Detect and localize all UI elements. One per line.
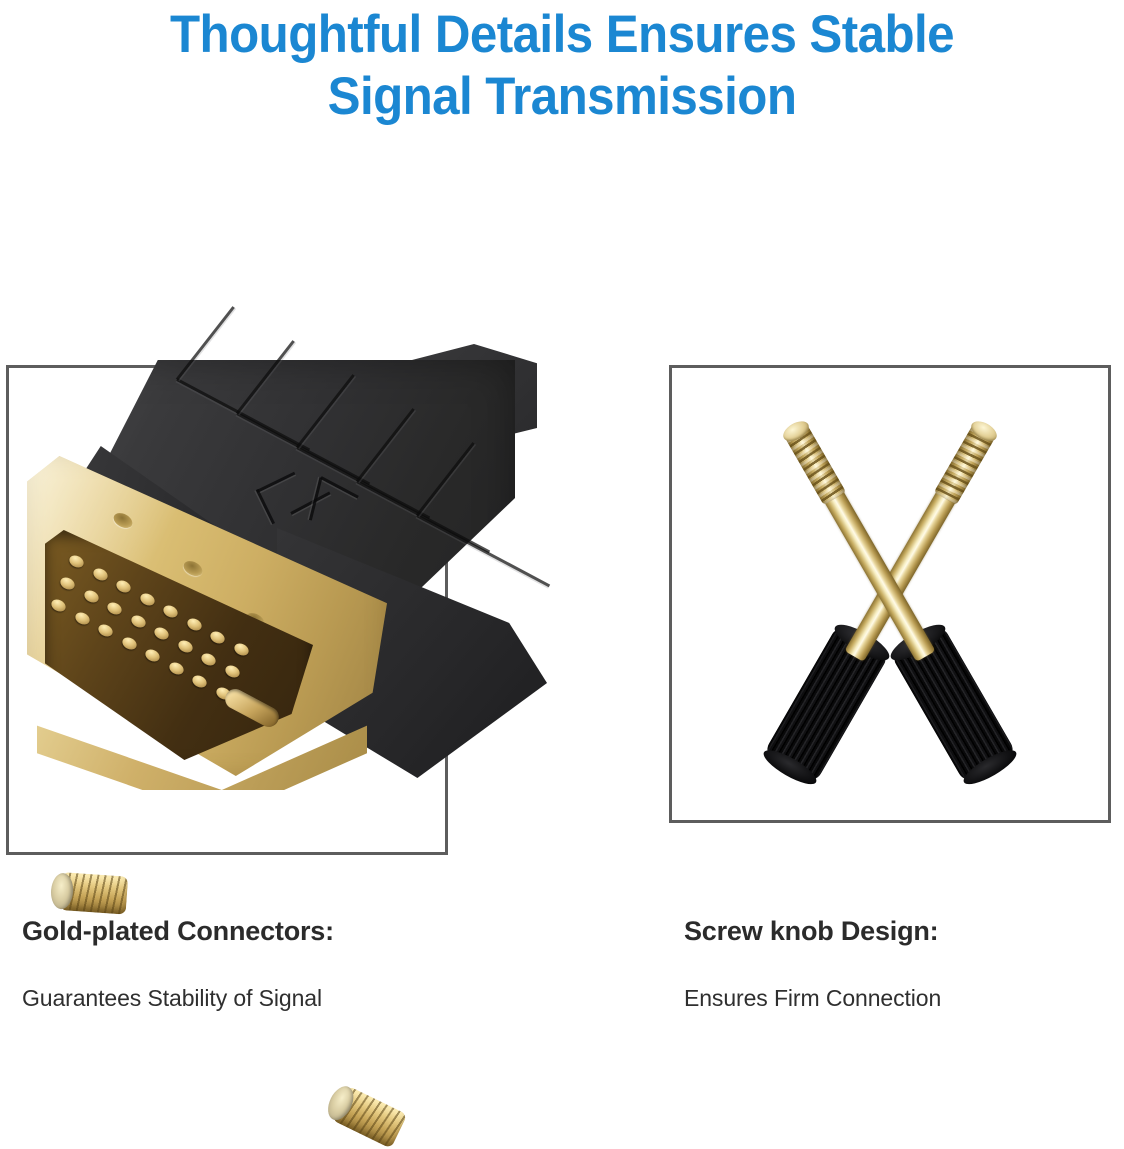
thumbscrew-post-lower xyxy=(323,1081,408,1148)
thumbscrew-post-upper xyxy=(50,871,128,914)
product-image-panel-gold-plated-connector xyxy=(6,365,448,855)
feature-caption-gold-plated: Gold-plated Connectors: Guarantees Stabi… xyxy=(22,916,334,1012)
feature-subtitle: Guarantees Stability of Signal xyxy=(22,985,334,1012)
dvi-connector-graphic xyxy=(27,360,547,830)
feature-title: Screw knob Design: xyxy=(684,916,941,947)
page-title: Thoughtful Details Ensures Stable Signal… xyxy=(39,4,1084,128)
product-image-panel-screw-knob xyxy=(669,365,1111,823)
screw-knob-illustration xyxy=(672,368,1108,820)
feature-caption-screw-knob: Screw knob Design: Ensures Firm Connecti… xyxy=(684,916,941,1012)
feature-title: Gold-plated Connectors: xyxy=(22,916,334,947)
dvi-emboss-icon xyxy=(255,464,367,542)
dvi-connector-illustration xyxy=(9,368,445,852)
feature-subtitle: Ensures Firm Connection xyxy=(684,985,941,1012)
